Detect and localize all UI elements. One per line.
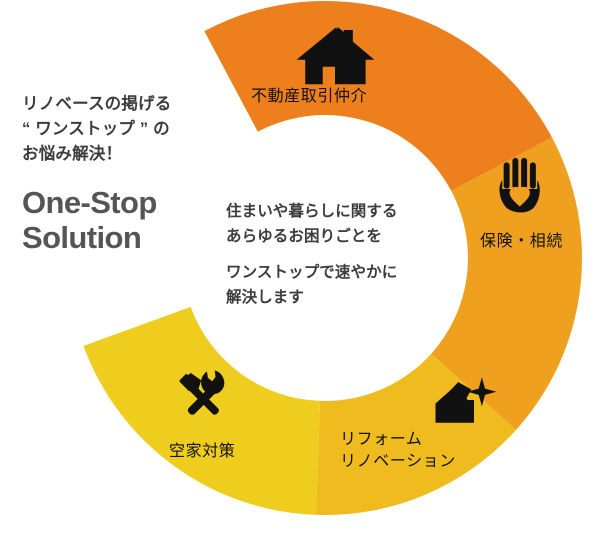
center-paragraph-2: ワンストップで速やかに 解決します <box>226 260 466 310</box>
lead-line-2: “ ワンストップ ” の <box>22 117 212 142</box>
center-p2-line-2: 解決します <box>226 285 466 310</box>
segment-label-vacant-house-line-1: 空家対策 <box>169 441 235 463</box>
segment-label-insurance-line-1: 保険・相続 <box>480 231 563 253</box>
center-p2-line-1: ワンストップで速やかに <box>226 260 466 285</box>
title-line-2: Solution <box>22 221 212 256</box>
center-p1-line-1: 住まいや暮らしに関する <box>226 199 466 224</box>
center-description: 住まいや暮らしに関する あらゆるお困りごとを ワンストップで速やかに 解決します <box>226 199 466 310</box>
center-paragraph-1: 住まいや暮らしに関する あらゆるお困りごとを <box>226 199 466 249</box>
segment-label-real-estate-line-1: 不動産取引仲介 <box>251 86 367 108</box>
segment-vacant-house[interactable] <box>84 307 321 515</box>
lead-line-1: リノベースの掲げる <box>22 92 212 117</box>
segment-label-renovation[interactable]: リフォーム リノベーション <box>340 429 456 474</box>
diagram-canvas: リノベースの掲げる “ ワンストップ ” の お悩み解決！ One-Stop S… <box>0 0 600 533</box>
page-title: One-Stop Solution <box>22 186 212 255</box>
lead-line-3: お悩み解決！ <box>22 142 212 167</box>
segment-label-vacant-house[interactable]: 空家対策 <box>169 441 235 463</box>
center-p1-line-2: あらゆるお困りごとを <box>226 224 466 249</box>
segment-label-renovation-line-1: リフォーム <box>340 429 456 451</box>
title-line-1: One-Stop <box>22 186 212 221</box>
left-headline-block: リノベースの掲げる “ ワンストップ ” の お悩み解決！ One-Stop S… <box>22 92 212 256</box>
lead-copy: リノベースの掲げる “ ワンストップ ” の お悩み解決！ <box>22 92 212 167</box>
segment-label-real-estate[interactable]: 不動産取引仲介 <box>251 86 367 108</box>
segment-label-renovation-line-2: リノベーション <box>340 451 456 473</box>
segment-label-insurance[interactable]: 保険・相続 <box>480 231 563 253</box>
